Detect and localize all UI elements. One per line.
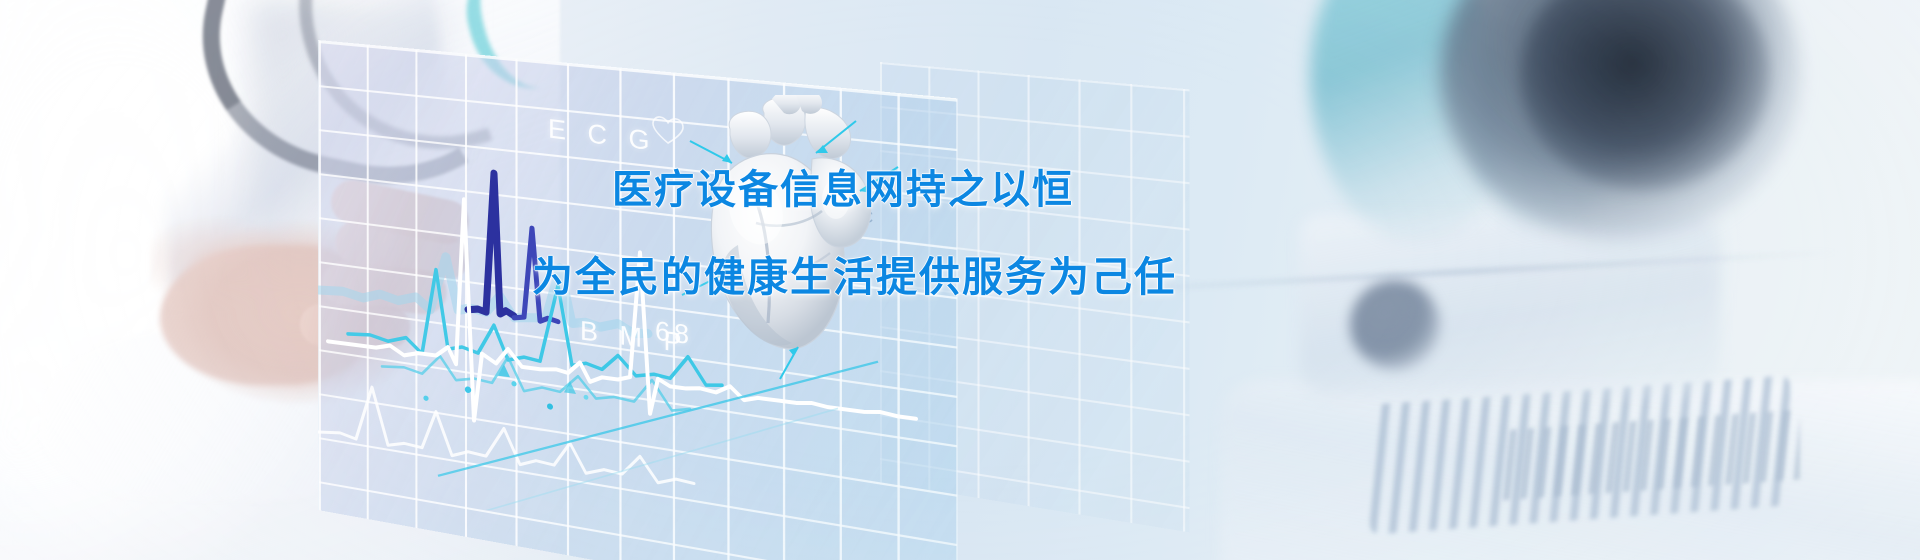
- headline-line-1: 医疗设备信息网持之以恒: [612, 168, 1360, 213]
- microscope-focus-knob: [1350, 280, 1440, 370]
- heart-outline-icon: [651, 114, 685, 148]
- headline-line-2: 为全民的健康生活提供服务为己任: [532, 255, 1360, 301]
- headline-block: 医疗设备信息网持之以恒 为全民的健康生活提供服务为己任: [600, 168, 1360, 301]
- medical-hero-banner: E C G B M P 68 S C: [0, 0, 1920, 560]
